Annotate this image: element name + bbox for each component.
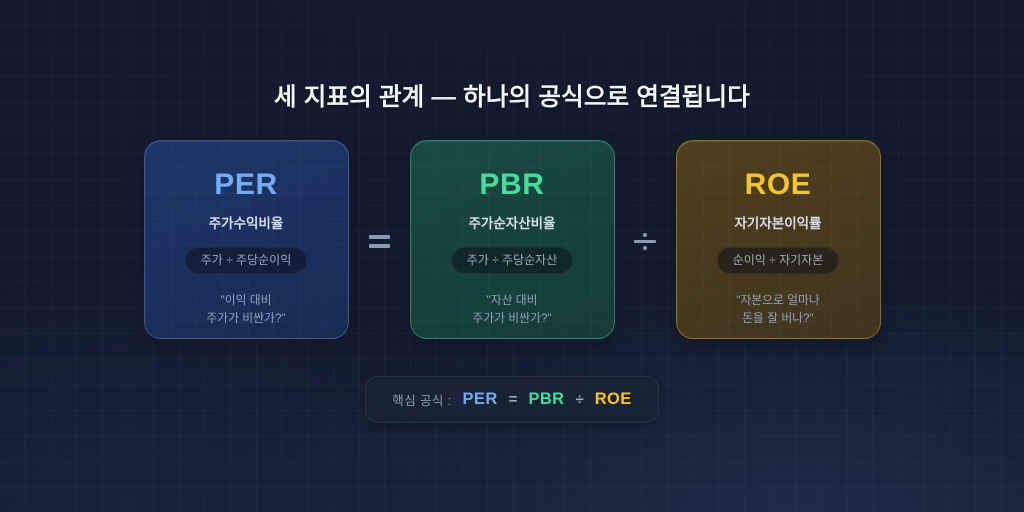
metric-card-pbr[interactable]: PBR 주가순자산비율 주가 ÷ 주당순자산 "자산 대비 주가가 비싼가?" — [410, 140, 615, 339]
card-quote-line-1: "이익 대비 — [206, 291, 285, 309]
card-title-roe: ROE — [745, 170, 812, 200]
formula-chip-per: 주가 ÷ 주당순이익 — [185, 247, 308, 274]
card-quote-line-2: 돈을 잘 버나?" — [736, 309, 819, 327]
card-quote-line-2: 주가가 비싼가?" — [472, 309, 551, 327]
metric-card-roe[interactable]: ROE 자기자본이익률 순이익 ÷ 자기자본 "자본으로 얼마나 돈을 잘 버나… — [676, 140, 881, 339]
card-quote-line-2: 주가가 비싼가?" — [206, 309, 285, 327]
key-formula-divide-sign: ÷ — [575, 391, 583, 408]
page-title: 세 지표의 관계 — 하나의 공식으로 연결됩니다 — [274, 78, 750, 113]
divide-bar — [634, 240, 656, 243]
slide-container: 세 지표의 관계 — 하나의 공식으로 연결됩니다 PER 주가수익비율 주가 … — [0, 0, 1024, 512]
card-subtitle-roe: 자기자본이익률 — [735, 217, 822, 231]
formula-chip-pbr: 주가 ÷ 주당순자산 — [451, 247, 574, 274]
equals-bar-bottom — [369, 244, 390, 248]
card-quote-per: "이익 대비 주가가 비싼가?" — [206, 291, 285, 328]
formula-chip-roe: 순이익 ÷ 자기자본 — [717, 247, 840, 274]
card-quote-pbr: "자산 대비 주가가 비싼가?" — [472, 291, 551, 328]
card-title-pbr: PBR — [479, 170, 544, 200]
key-formula-term-pbr: PBR — [528, 390, 564, 409]
metric-card-per[interactable]: PER 주가수익비율 주가 ÷ 주당순이익 "이익 대비 주가가 비싼가?" — [144, 140, 349, 339]
key-formula-term-per: PER — [463, 390, 498, 409]
divide-dot-bottom — [643, 246, 647, 250]
key-formula-term-roe: ROE — [595, 390, 632, 409]
equals-operator — [349, 235, 410, 248]
card-quote-roe: "자본으로 얼마나 돈을 잘 버나?" — [736, 291, 819, 328]
card-quote-line-1: "자본으로 얼마나 — [736, 291, 819, 309]
key-formula-label: 핵심 공식 : — [392, 390, 451, 409]
metric-cards-row: PER 주가수익비율 주가 ÷ 주당순이익 "이익 대비 주가가 비싼가?" P… — [144, 140, 881, 339]
equals-bar-top — [369, 235, 390, 239]
card-subtitle-per: 주가수익비율 — [209, 217, 284, 231]
equals-icon — [369, 235, 390, 248]
divide-operator — [615, 233, 676, 250]
card-title-per: PER — [214, 170, 278, 200]
key-formula-equals-sign: = — [509, 391, 518, 408]
divide-dot-top — [643, 233, 647, 237]
card-quote-line-1: "자산 대비 — [472, 291, 551, 309]
key-formula-bar: 핵심 공식 : PER = PBR ÷ ROE — [365, 376, 658, 423]
card-subtitle-pbr: 주가순자산비율 — [469, 217, 556, 231]
divide-icon — [634, 233, 656, 250]
